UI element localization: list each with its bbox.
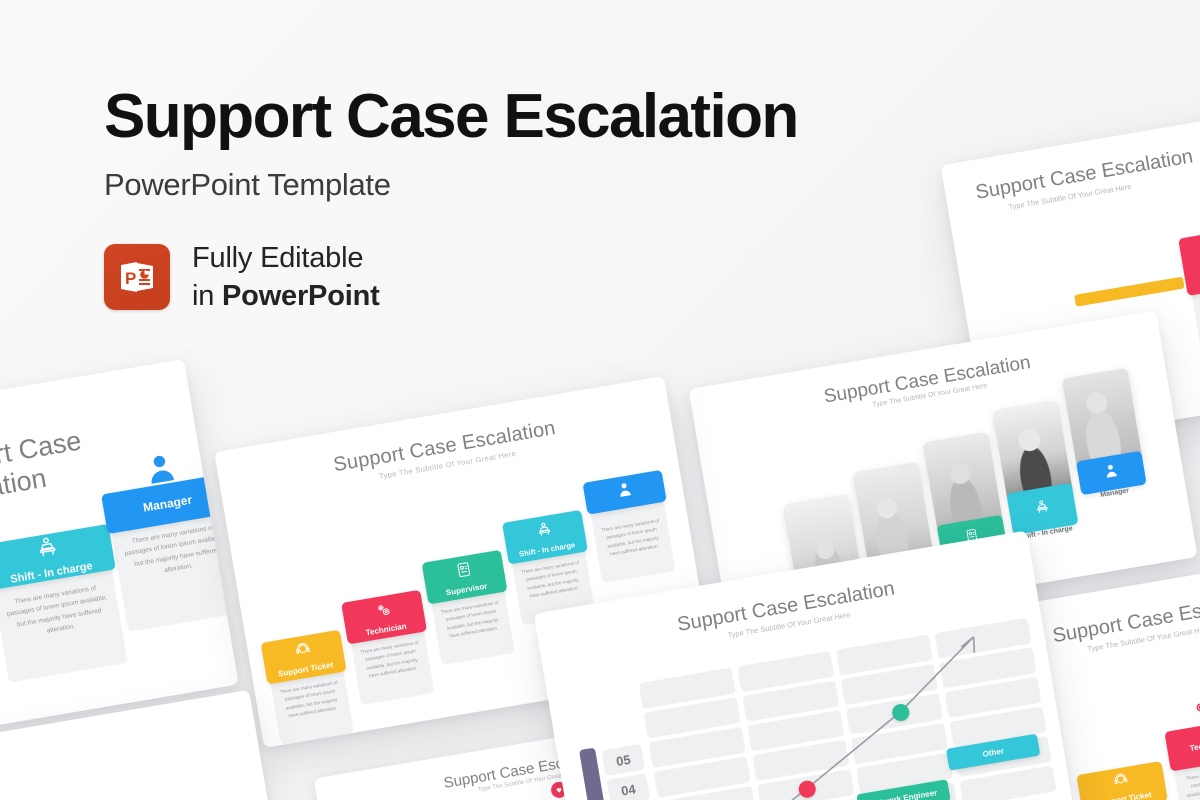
y-tick: 04	[606, 773, 650, 800]
role-card-technician[interactable]: Technician There are many variations of …	[341, 590, 437, 706]
podium-speaker-icon	[534, 519, 554, 544]
role-label: Technician	[365, 621, 407, 637]
role-label: Supervisor	[445, 581, 488, 597]
badge-line-1: Fully Editable	[192, 239, 380, 277]
gears-icon	[1189, 695, 1200, 730]
user-tie-icon	[1102, 461, 1121, 484]
gears-icon	[373, 599, 393, 624]
role-card-technician[interactable]: Technician There are many variations of …	[1164, 718, 1200, 800]
id-badge-icon	[453, 559, 473, 584]
role-card-shift-in-charge[interactable]: Shift - In charge There are many variati…	[0, 524, 131, 683]
y-tick: 05	[601, 744, 645, 776]
slide-left-roles[interactable]: Support Case Escalation Shift - In charg…	[0, 359, 239, 751]
role-card-supervisor[interactable]: Supervisor There are many variations of …	[422, 550, 518, 666]
badge-line-2-bold: PowerPoint	[222, 280, 380, 312]
svg-text:P: P	[125, 269, 136, 288]
poster-canvas: Support Case Escalation Shift - In charg…	[0, 0, 1200, 800]
role-bar-support-ticket[interactable]	[1074, 277, 1184, 307]
editable-badge: P Fully Editable in PowerPoint	[104, 239, 798, 316]
badge-text: Fully Editable in PowerPoint	[192, 239, 380, 316]
role-card-manager[interactable]: Manager There are many variations of pas…	[583, 470, 679, 586]
page-subtitle: PowerPoint Template	[104, 167, 798, 203]
role-card-technician[interactable]: Technician There are many variations of …	[1178, 220, 1200, 377]
headset-agent-icon	[1112, 771, 1131, 794]
badge-line-2: in PowerPoint	[192, 277, 380, 315]
badge-line-2-prefix: in	[192, 280, 222, 312]
role-label: Manager	[142, 493, 193, 515]
headset-agent-icon	[292, 639, 312, 664]
page-title: Support Case Escalation	[104, 84, 798, 149]
role-card-support-ticket[interactable]: Support Ticket There are many variations…	[261, 630, 357, 746]
role-body-text: There are many variations of passages of…	[590, 500, 675, 583]
role-card-manager[interactable]: Manager There are many variations of pas…	[101, 473, 239, 642]
podium-speaker-icon	[1033, 497, 1052, 520]
role-card-support-ticket[interactable]: Support Ticket There are many variations…	[1076, 761, 1177, 800]
user-tie-icon	[614, 480, 634, 505]
podium-speaker-icon	[33, 534, 62, 567]
role-label: Technician	[1189, 737, 1200, 753]
powerpoint-icon: P	[104, 244, 170, 310]
hero-block: Support Case Escalation PowerPoint Templ…	[104, 84, 798, 316]
